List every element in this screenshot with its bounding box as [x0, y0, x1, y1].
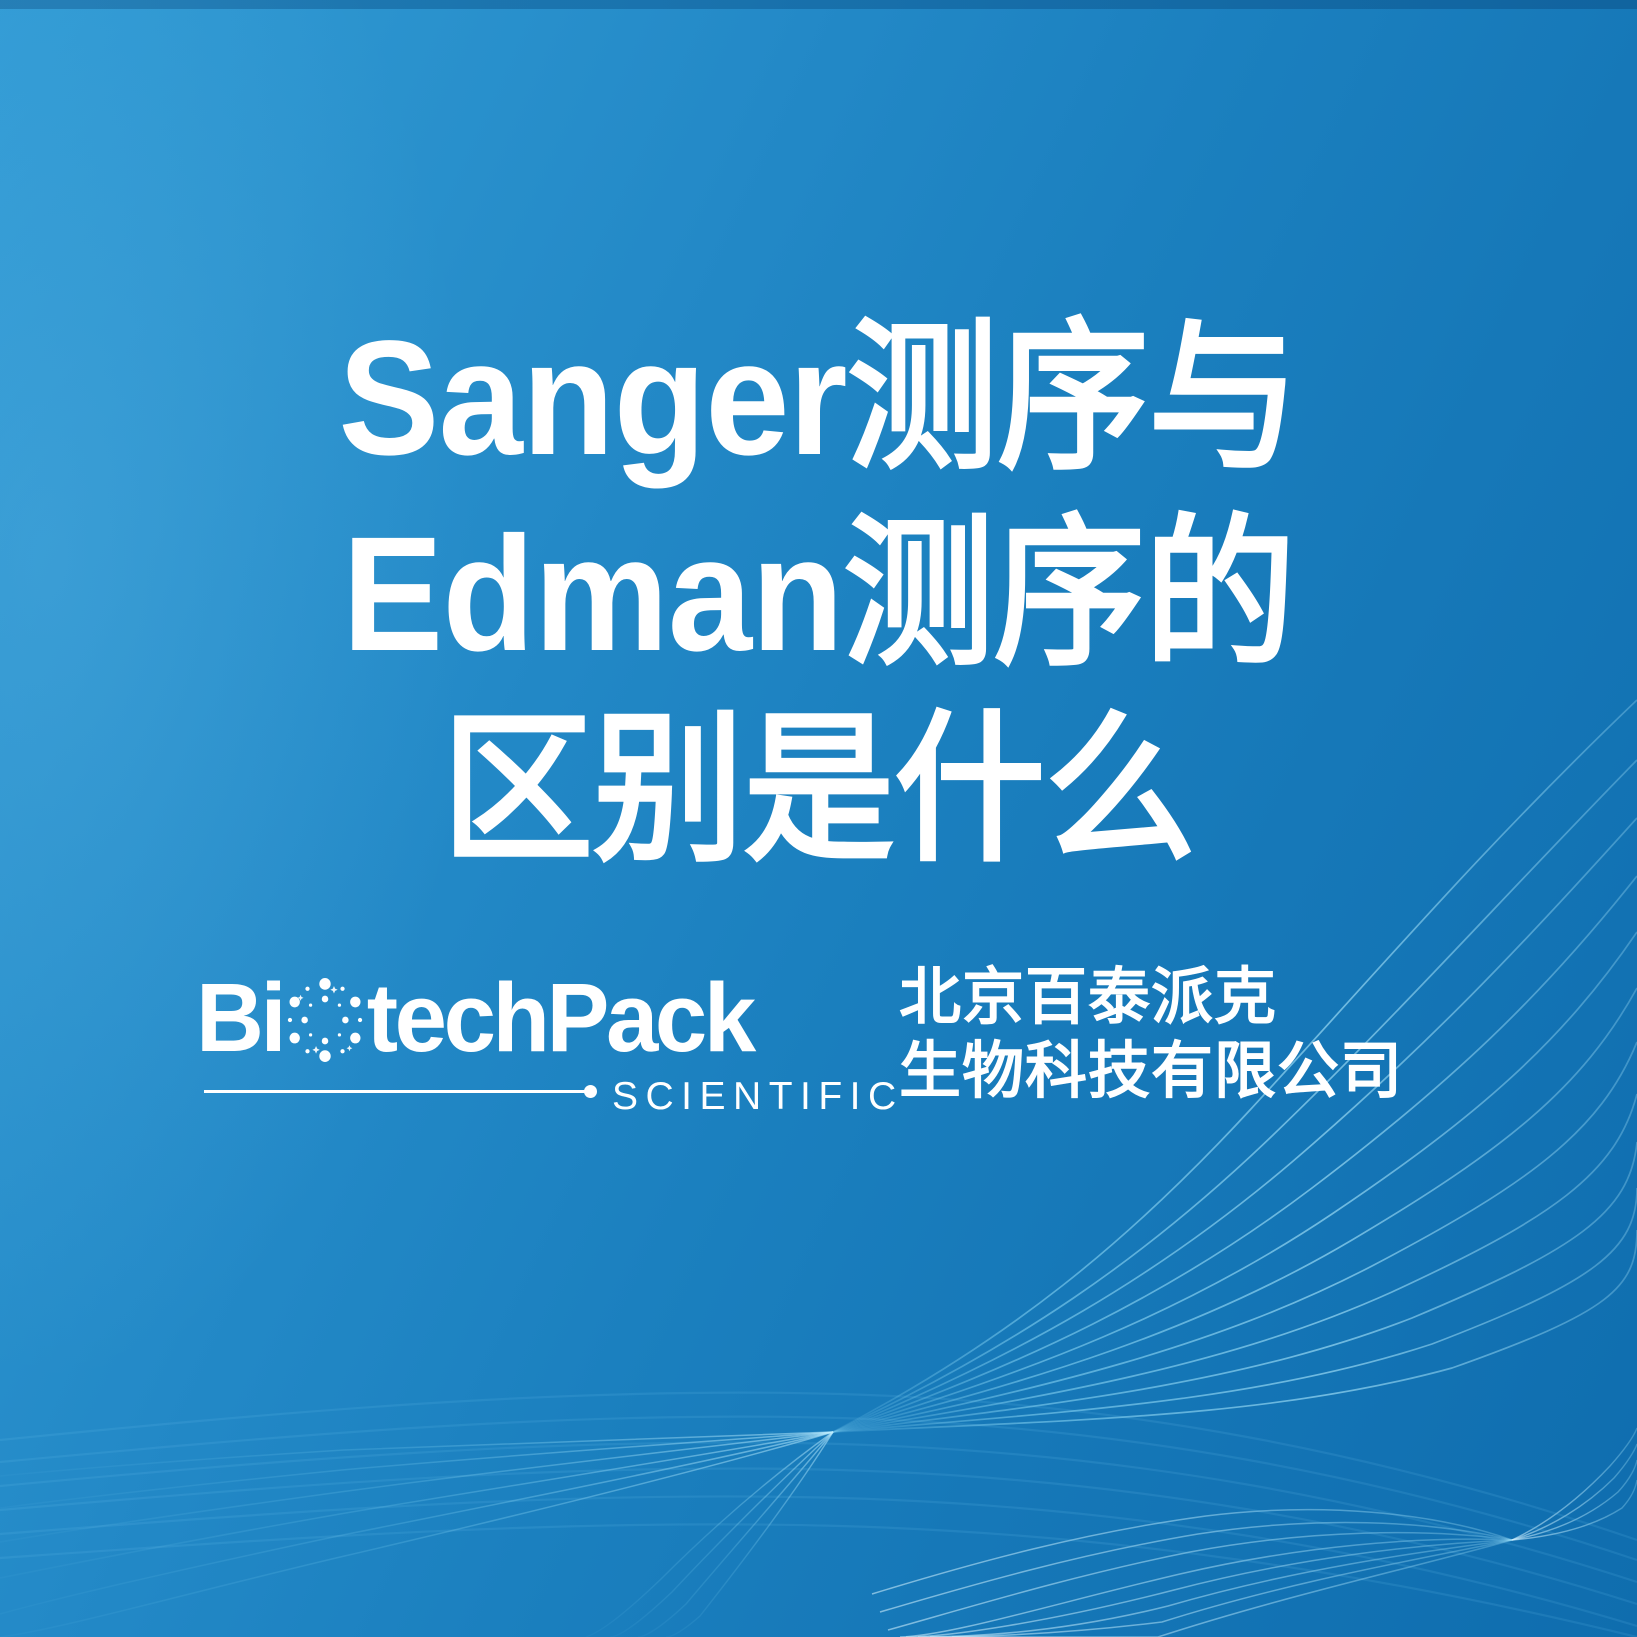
- page-title: Sanger测序与 Edman测序的 区别是什么: [57, 300, 1579, 888]
- title-line-3: 区别是什么: [57, 692, 1579, 888]
- logo-rule-row: SCIENTIFIC: [204, 1075, 856, 1109]
- company-name-cn-line-1: 北京百泰派克: [899, 961, 1403, 1035]
- logo-divider-dot: [584, 1085, 597, 1098]
- company-name-cn: 北京百泰派克 生物科技有限公司: [899, 961, 1403, 1109]
- molecule-o-icon: [284, 978, 365, 1062]
- logo-tagline: SCIENTIFIC: [612, 1077, 904, 1116]
- logo-divider-line: [204, 1090, 588, 1093]
- logo-wordmark-group: Bi: [196, 963, 856, 1113]
- brand-logo: Bi: [196, 963, 1456, 1113]
- title-line-1: Sanger测序与: [57, 300, 1579, 496]
- poster-canvas: Sanger测序与 Edman测序的 区别是什么 Bi: [0, 0, 1637, 1637]
- wordmark-suffix: techPack: [367, 969, 753, 1066]
- wordmark: Bi: [196, 969, 753, 1066]
- title-line-2: Edman测序的: [57, 496, 1579, 692]
- wordmark-prefix: Bi: [196, 969, 283, 1066]
- top-edge-strip: [0, 0, 1637, 9]
- company-name-cn-line-2: 生物科技有限公司: [899, 1035, 1403, 1109]
